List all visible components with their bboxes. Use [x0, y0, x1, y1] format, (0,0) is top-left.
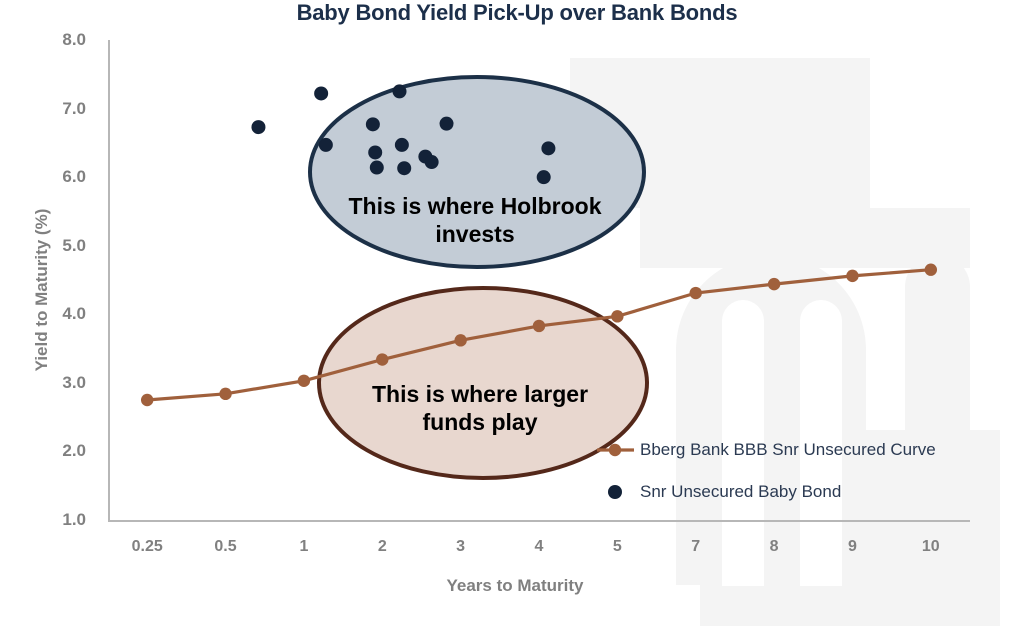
scatter-data-point: [393, 84, 407, 98]
curve-data-point: [219, 388, 231, 400]
scatter-data-point: [251, 120, 265, 134]
curve-data-point: [533, 320, 545, 332]
scatter-data-point: [368, 145, 382, 159]
curve-data-point: [846, 270, 858, 282]
curve-data-point: [454, 334, 466, 346]
scatter-data-point: [537, 170, 551, 184]
legend-item-scatter-label: Snr Unsecured Baby Bond: [640, 482, 841, 502]
scatter-data-point: [366, 117, 380, 131]
legend-curve-dot: [609, 444, 621, 456]
annotation-line-1: This is where larger: [355, 380, 605, 408]
annotation-line-2: funds play: [355, 408, 605, 436]
scatter-data-point: [440, 117, 454, 131]
legend-scatter-dot: [608, 485, 622, 499]
chart-container: Baby Bond Yield Pick-Up over Bank Bonds …: [0, 0, 1034, 626]
annotation-label-larger-funds: This is where larger funds play: [355, 380, 605, 436]
annotation-label-holbrook: This is where Holbrook invests: [330, 192, 620, 248]
scatter-data-point: [397, 161, 411, 175]
chart-plot-area: [0, 0, 1034, 626]
annotation-line-2: invests: [330, 220, 620, 248]
curve-data-point: [768, 278, 780, 290]
curve-data-point: [690, 287, 702, 299]
scatter-data-point: [314, 86, 328, 100]
curve-data-point: [925, 264, 937, 276]
legend-markers: [597, 444, 634, 499]
curve-data-point: [611, 310, 623, 322]
curve-data-point: [376, 353, 388, 365]
scatter-data-point: [395, 138, 409, 152]
annotation-line-1: This is where Holbrook: [330, 192, 620, 220]
curve-data-point: [141, 394, 153, 406]
scatter-data-point: [319, 138, 333, 152]
scatter-data-point: [541, 141, 555, 155]
legend-item-curve-label: Bberg Bank BBB Snr Unsecured Curve: [640, 440, 936, 460]
curve-data-point: [298, 375, 310, 387]
scatter-data-point: [425, 155, 439, 169]
scatter-data-point: [370, 161, 384, 175]
